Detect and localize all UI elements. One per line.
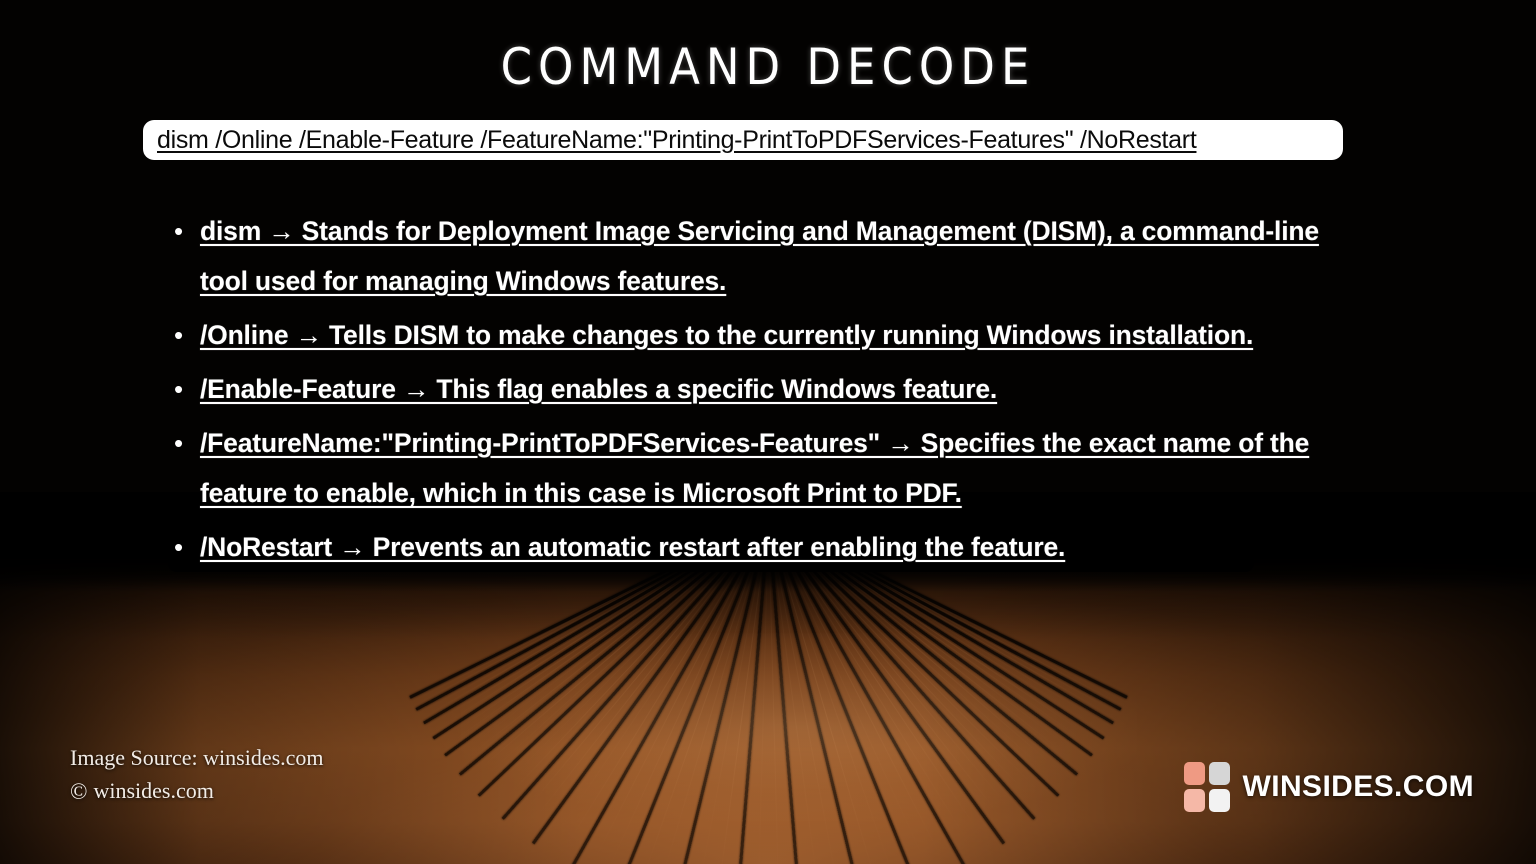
wooden-floor-background [0, 560, 1536, 864]
logo-square-top-right [1209, 762, 1230, 785]
bullet-marker-icon: • [168, 522, 200, 572]
bullet-marker-icon: • [168, 310, 200, 360]
logo-square-top-left [1184, 762, 1205, 785]
winsides-logo: WINSIDES.COM [1184, 762, 1474, 812]
list-item-text: /NoRestart → Prevents an automatic resta… [200, 522, 1248, 572]
list-item-text: dism → Stands for Deployment Image Servi… [200, 206, 1368, 306]
copyright-line: © winsides.com [70, 778, 214, 804]
logo-square-bottom-left [1184, 789, 1205, 812]
copyright-icon: © [70, 780, 87, 803]
floor-vignette [0, 560, 1536, 864]
slide-canvas: COMMAND DECODE dism /Online /Enable-Feat… [0, 0, 1536, 864]
list-item-text: /Enable-Feature → This flag enables a sp… [200, 364, 1368, 414]
list-item: • /Online → Tells DISM to make changes t… [168, 310, 1368, 360]
logo-square-bottom-right [1209, 789, 1230, 812]
bullet-marker-icon: • [168, 364, 200, 414]
list-item: • /NoRestart → Prevents an automatic res… [168, 522, 1254, 572]
bullet-marker-icon: • [168, 418, 200, 468]
image-source-label: Image Source: winsides.com [70, 745, 324, 771]
list-item: • /Enable-Feature → This flag enables a … [168, 364, 1368, 414]
explanation-list: • dism → Stands for Deployment Image Ser… [168, 206, 1368, 576]
command-box: dism /Online /Enable-Feature /FeatureNam… [143, 120, 1343, 160]
copyright-text: winsides.com [93, 778, 213, 804]
bullet-marker-icon: • [168, 206, 200, 256]
command-text: dism /Online /Enable-Feature /FeatureNam… [157, 126, 1196, 155]
list-item: • dism → Stands for Deployment Image Ser… [168, 206, 1368, 306]
page-title: COMMAND DECODE [0, 38, 1536, 96]
list-item-text: /Online → Tells DISM to make changes to … [200, 310, 1368, 360]
list-item: • /FeatureName:"Printing-PrintToPDFServi… [168, 418, 1368, 518]
logo-wordmark: WINSIDES.COM [1243, 770, 1474, 804]
logo-squares-icon [1184, 762, 1230, 812]
list-item-text: /FeatureName:"Printing-PrintToPDFService… [200, 418, 1368, 518]
